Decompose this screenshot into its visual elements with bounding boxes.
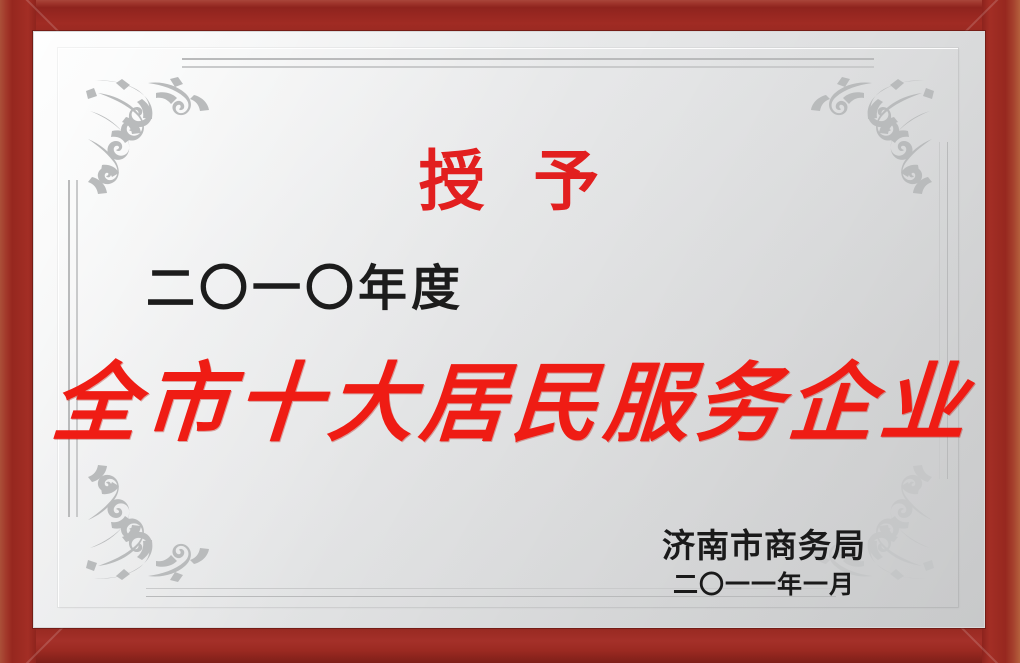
plaque-inner-panel-edge [58,48,958,607]
rule-right-inner [939,142,941,479]
signature-block: 济南市商务局 二〇一一年一月 [662,528,866,598]
corner-flourish-icon [802,462,934,582]
corner-flourish-icon [802,77,934,197]
issue-date: 二〇一一年一月 [662,571,866,599]
frame-rail-right [982,0,1020,663]
rule-left-inner [76,180,78,517]
award-plaque: 授 予 二〇一〇年度 全市十大居民服务企业 济南市商务局 二〇一一年一月 [0,0,1020,663]
award-title: 全市十大居民服务企业 [34,358,984,451]
frame-rail-bottom [0,625,1020,663]
rule-top-inner [182,66,874,68]
issuing-organization: 济南市商务局 [662,528,866,565]
rule-left-outer [68,180,70,517]
frame-rail-left [0,0,36,663]
corner-flourish-icon [86,462,218,582]
corner-flourish-icon [86,77,218,197]
rule-top-outer [182,58,874,60]
rule-bottom-inner [146,588,836,590]
plaque-text-content: 授 予 二〇一〇年度 全市十大居民服务企业 济南市商务局 二〇一一年一月 [34,32,984,627]
grant-label: 授 予 [34,150,984,216]
plaque-mat: 授 予 二〇一〇年度 全市十大居民服务企业 济南市商务局 二〇一一年一月 [34,32,984,627]
rule-right-outer [947,142,949,479]
rule-bottom-outer [146,596,836,598]
frame-rail-top [0,0,1020,34]
award-year-line: 二〇一〇年度 [146,264,464,313]
